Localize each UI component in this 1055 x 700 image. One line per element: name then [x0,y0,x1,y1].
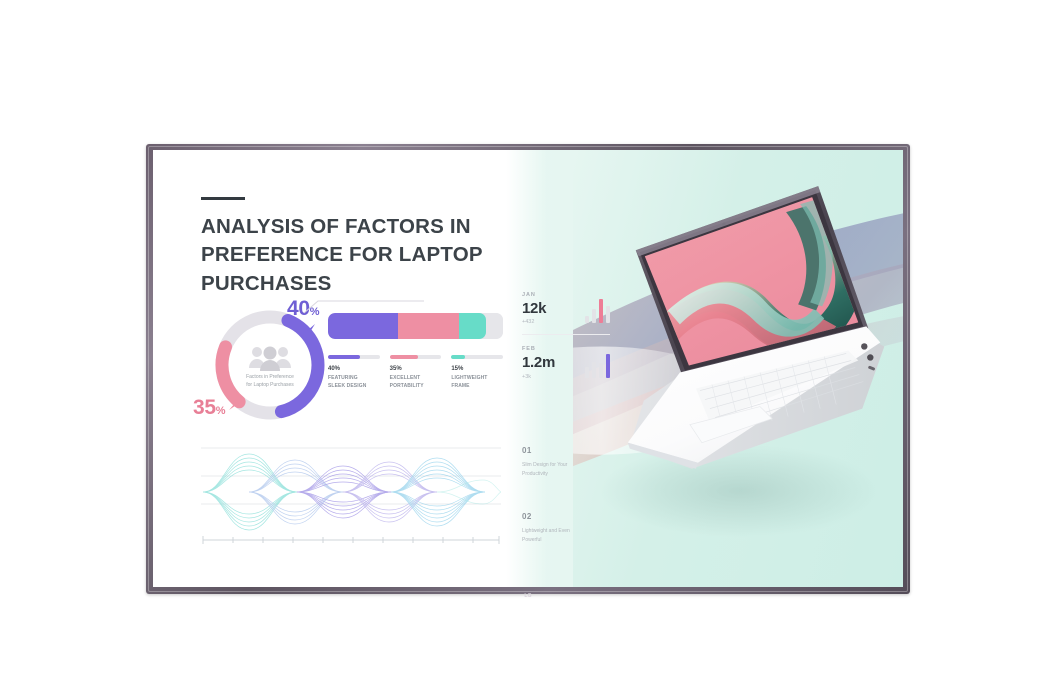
waveform-chart [201,440,501,552]
lg-monitor-device: ANALYSIS OF FACTORS IN PREFERENCE FOR LA… [146,144,910,594]
legend-label: FEATURING SLEEK DESIGN [328,375,380,391]
monitor-screen: ANALYSIS OF FACTORS IN PREFERENCE FOR LA… [153,150,903,587]
legend-fill [328,355,360,359]
note-number: 02 [522,512,608,521]
stat-value: 12k [522,300,546,317]
note-number: 01 [522,446,608,455]
laptop-product-illustration [573,150,903,587]
legend-fill [451,355,464,359]
product-image-panel [573,150,903,587]
callout-connector-line [304,300,479,314]
title-line-1: ANALYSIS OF FACTORS IN [201,213,601,241]
legend-item: 35% EXCELLENT PORTABILITY [390,355,442,391]
stacked-bar-chart: 40% FEATURING SLEEK DESIGN 35% EXCELLENT [328,313,503,391]
legend-track [451,355,503,359]
legend-item: 40% FEATURING SLEEK DESIGN [328,355,380,391]
legend-label: EXCELLENT PORTABILITY [390,375,442,391]
chart-x-axis [203,536,499,544]
notes-list: 01 Slim Design for Your Productivity 02 … [522,446,608,578]
legend-label: LIGHTWEIGHT FRAME [451,375,503,391]
stat-sparkline-jan [585,299,611,323]
stat-sparkline-feb [585,354,611,378]
legend-track [390,355,442,359]
donut-center-label: Factors in Preference for Laptop Purchas… [227,374,313,389]
stat-delta: +3k [522,374,555,380]
bar-legend: 40% FEATURING SLEEK DESIGN 35% EXCELLENT [328,355,503,391]
stat-delta: +432 [522,319,546,325]
stacked-bar [328,313,503,339]
legend-fill [390,355,418,359]
note-item: 02 Lightweight and Even Powerful [522,512,608,544]
note-item: 01 Slim Design for Your Productivity [522,446,608,478]
note-text: Lightweight and Even Powerful [522,527,608,544]
legend-item: 15% LIGHTWEIGHT FRAME [451,355,503,391]
legend-percent: 40% [328,366,380,372]
legend-track [328,355,380,359]
stat-value: 1.2m [522,354,555,371]
page-title: ANALYSIS OF FACTORS IN PREFERENCE FOR LA… [201,213,601,298]
stat-card-feb: FEB 1.2m +3k [522,334,610,388]
stats-column: JAN 12k +432 F [522,292,610,389]
stat-card-jan: JAN 12k +432 [522,292,610,334]
legend-percent: 15% [451,366,503,372]
title-line-2: PREFERENCE FOR LAPTOP PURCHASES [201,241,601,298]
bar-segment-lightweight [459,313,485,339]
bar-segment-remainder [486,313,504,339]
people-group-icon [249,347,291,372]
infographic-content: ANALYSIS OF FACTORS IN PREFERENCE FOR LA… [153,150,588,587]
title-rule [201,197,245,200]
bar-segment-sleek-design [328,313,398,339]
waveform-bands [203,454,501,530]
legend-percent: 35% [390,366,442,372]
note-text: Slim Design for Your Productivity [522,461,608,478]
waveform-chart-svg [201,440,501,552]
donut-callout-35: 35% [193,396,225,420]
chart-gridlines [201,448,501,504]
lg-brand-logo: LG [520,593,537,600]
screenshot-canvas: ANALYSIS OF FACTORS IN PREFERENCE FOR LA… [0,0,1055,700]
bar-segment-portability [398,313,459,339]
